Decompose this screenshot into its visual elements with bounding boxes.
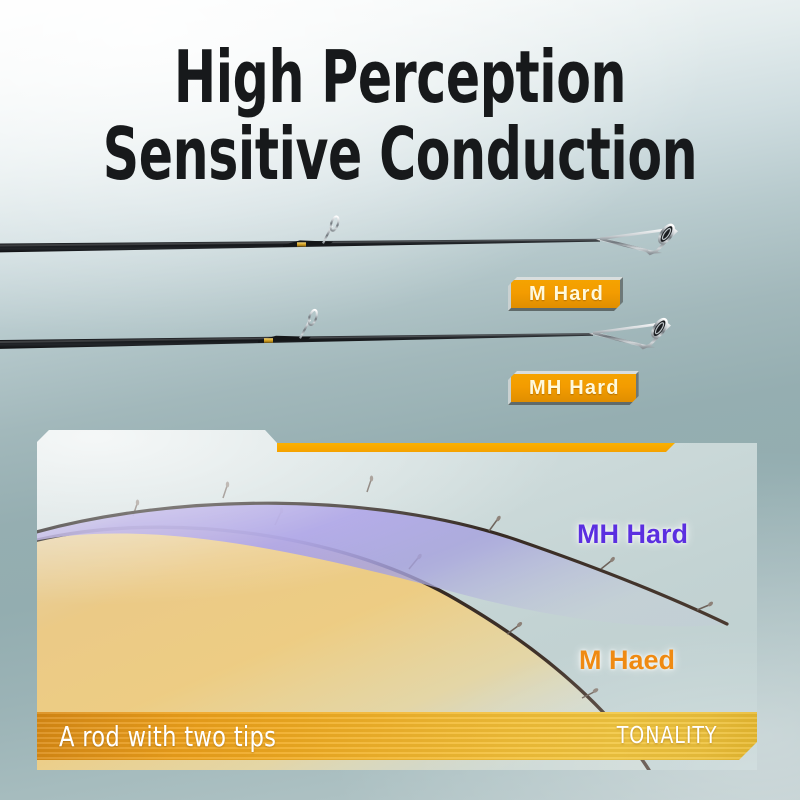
curve-label-mh-hard: MH Hard xyxy=(577,519,688,550)
footer-tagline: A rod with two tips xyxy=(59,720,276,753)
footer-bar: A rod with two tips TONALITY xyxy=(37,712,757,760)
status-badge-m-hard-label: M Hard xyxy=(529,283,604,306)
footer-brand: TONALITY xyxy=(616,723,717,749)
status-badge-m-hard[interactable]: M Hard xyxy=(508,277,623,311)
rod-guide-icon xyxy=(258,309,318,343)
status-badge-mh-hard-label: MH Hard xyxy=(529,377,620,400)
panel-accent-strip xyxy=(277,443,675,452)
headline-line-2: Sensitive Conduction xyxy=(88,121,712,188)
rod-guide-icon xyxy=(283,216,340,247)
fishing-rod-icon-lower xyxy=(0,309,669,349)
rod-tip-guide-icon xyxy=(589,317,669,348)
status-badge-mh-hard[interactable]: MH Hard xyxy=(508,371,639,405)
curve-label-m-haed: M Haed xyxy=(579,645,675,676)
page-title: High Perception Sensitive Conduction xyxy=(0,44,800,188)
headline-line-1: High Perception xyxy=(88,44,712,111)
rod-tip-guide-icon xyxy=(596,223,676,254)
fishing-rod-icon-upper xyxy=(0,216,676,254)
